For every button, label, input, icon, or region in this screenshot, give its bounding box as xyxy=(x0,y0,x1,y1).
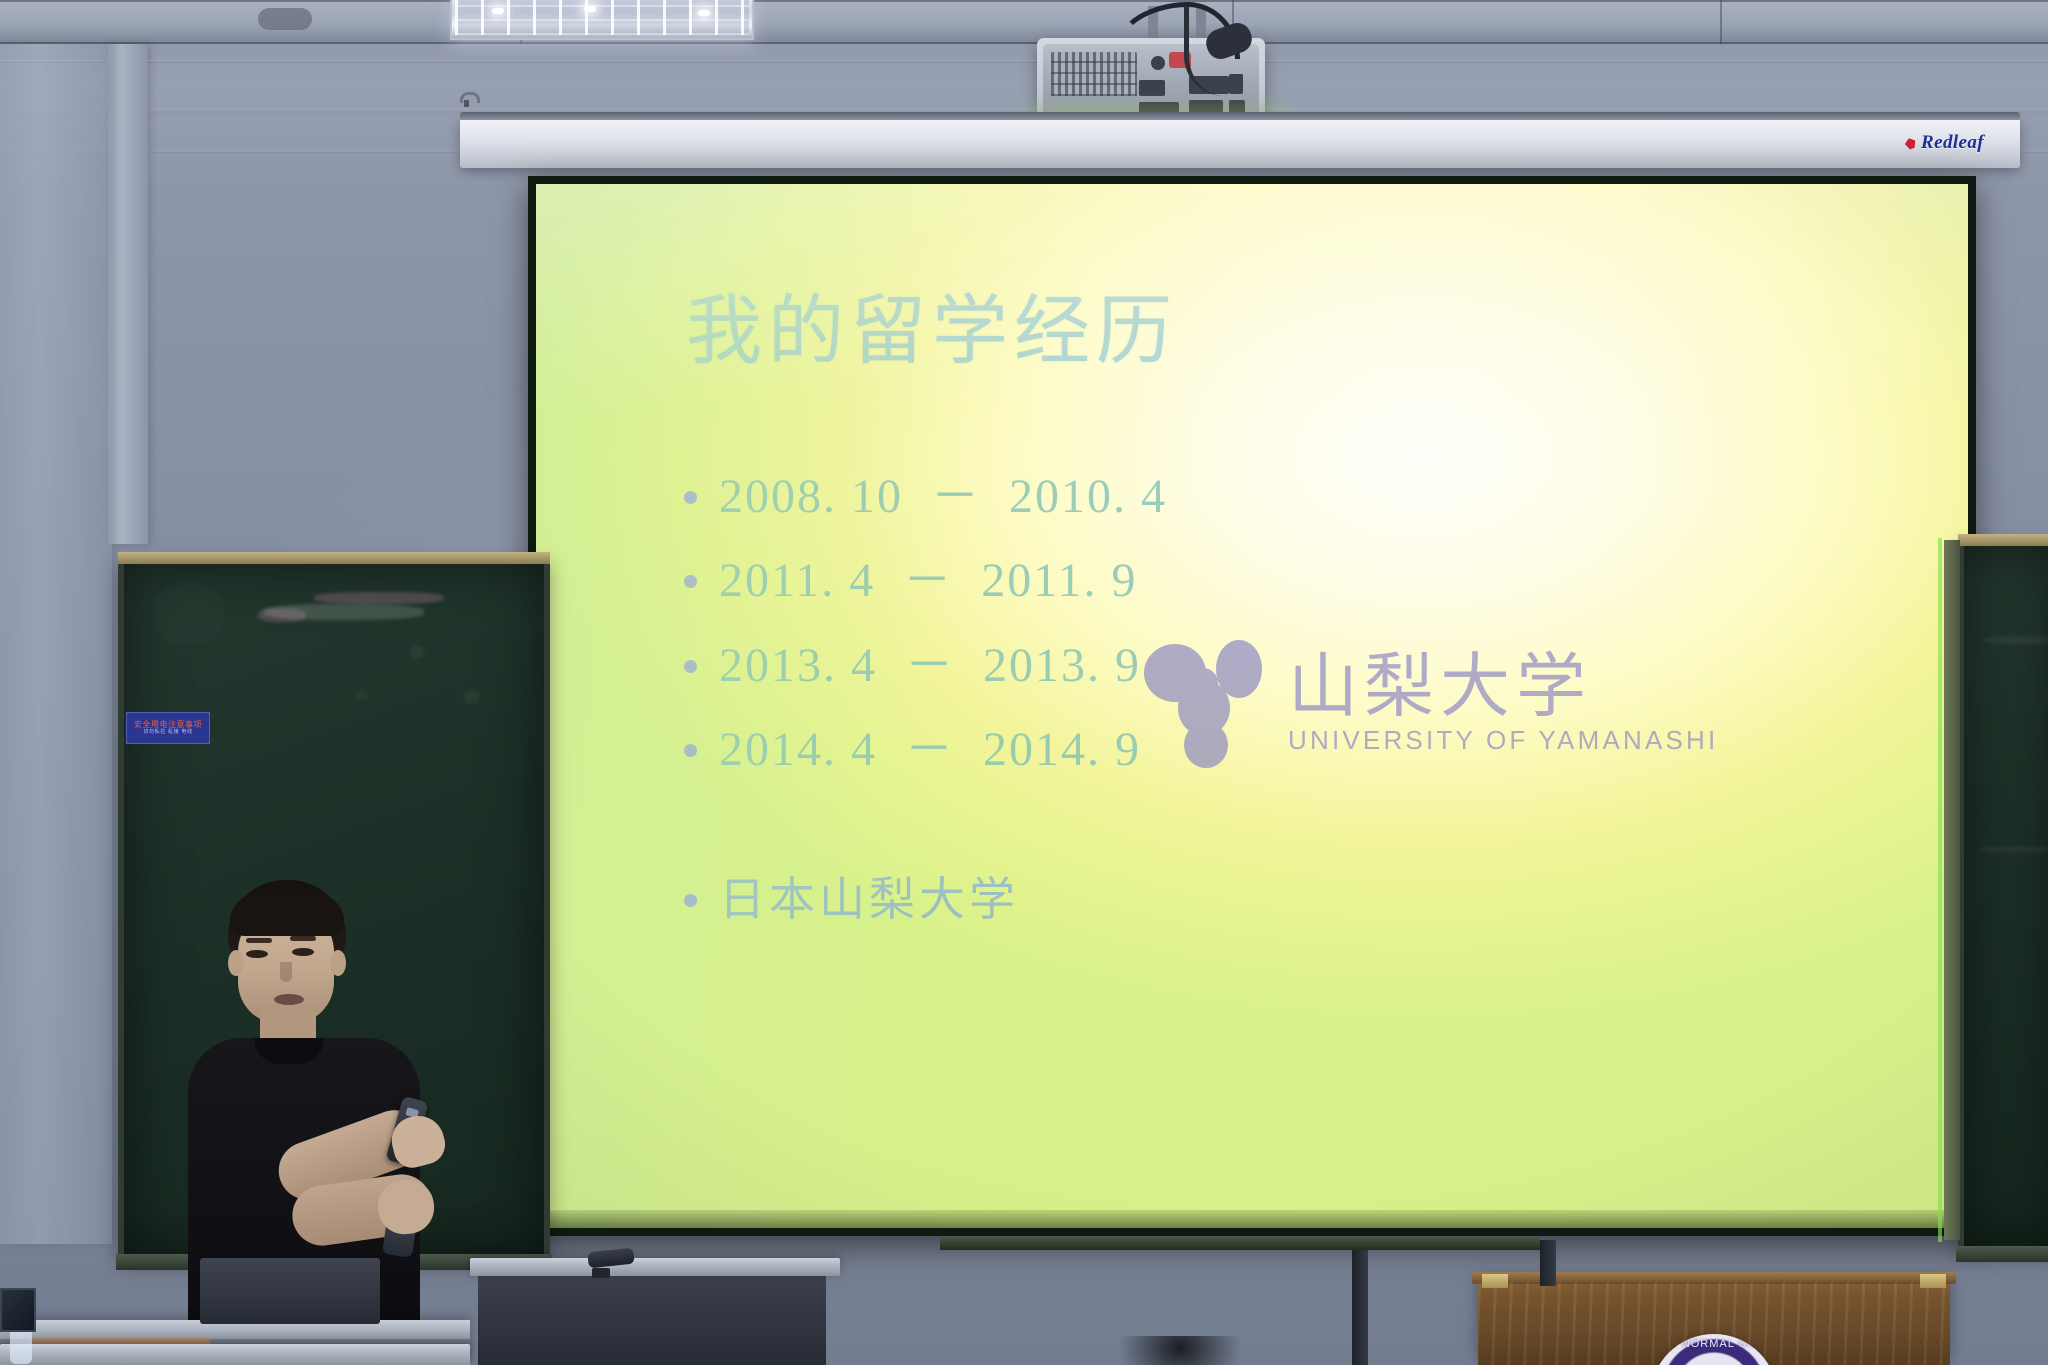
wall-pillar xyxy=(108,44,148,544)
yamanashi-university-logo: 山梨大学 UNIVERSITY OF YAMANASHI xyxy=(1144,638,1718,768)
projection-screen-frame: 我的留学经历 2008. 10 － 2010. 4 2011. 4 － 2011… xyxy=(528,176,1976,1236)
chalk-mark xyxy=(1980,846,2048,853)
presenter-eyebrow xyxy=(246,938,272,943)
lectern-corner-cap xyxy=(1482,1274,1508,1288)
projector-screen-valance[interactable]: Redleaf xyxy=(460,118,2020,168)
chalkboard-top-frame xyxy=(118,552,550,564)
right-chalkboard xyxy=(1958,540,2048,1252)
ceiling-line xyxy=(0,0,2048,2)
slide-title: 我的留学经历 xyxy=(686,294,1178,370)
list-item: 2011. 4 － 2011. 9 xyxy=(684,556,1504,606)
screen-lower-rail xyxy=(940,1238,1540,1250)
yamanashi-y-blob-logo xyxy=(1144,638,1262,768)
projector-port xyxy=(1139,80,1165,96)
chalk-mark xyxy=(410,646,424,658)
redleaf-wordmark: Redleaf xyxy=(1921,132,1984,154)
presenter-ear xyxy=(330,950,346,976)
seal-text: NG NORMAL UNIV xyxy=(1650,1334,1778,1365)
lectern-post xyxy=(1540,1240,1556,1286)
wall-side-panel xyxy=(0,44,112,1244)
presenter-eye xyxy=(246,950,268,958)
bullet-dot-icon xyxy=(684,894,697,907)
safety-notice-sticker: 安全用电注意事项 切勿私拉 乱接 电线 xyxy=(126,712,210,744)
front-desk-front xyxy=(0,1344,470,1365)
projector-green-edge-spill xyxy=(1938,538,1942,1242)
chalk-tray xyxy=(1956,1246,2048,1262)
chalkboard-side-frame xyxy=(1944,540,1960,1240)
list-item: 日本山梨大学 xyxy=(684,876,1504,924)
ceiling-seam xyxy=(1720,0,1722,44)
ceiling-line xyxy=(0,42,2048,44)
redleaf-brand: Redleaf xyxy=(1905,132,1984,154)
bullet-text: 2013. 4 － 2013. 9 xyxy=(719,641,1141,691)
logo-wordmark: 山梨大学 UNIVERSITY OF YAMANASHI xyxy=(1288,653,1718,753)
chalk-mark xyxy=(314,592,444,604)
valance-top-edge xyxy=(460,112,2020,120)
red-leaf-icon xyxy=(1904,136,1918,150)
logo-name-en: UNIVERSITY OF YAMANASHI xyxy=(1288,727,1718,753)
logo-name-cjk: 山梨大学 xyxy=(1288,653,1718,723)
bullet-dot-icon xyxy=(684,744,697,757)
light-diffuser-grid xyxy=(455,0,749,35)
bullet-dot-icon xyxy=(684,491,697,504)
bullet-text: 2011. 4 － 2011. 9 xyxy=(719,556,1137,606)
presenter-ear xyxy=(228,950,244,976)
university-seal: NG NORMAL UNIV xyxy=(1650,1334,1778,1365)
front-cabinet-top xyxy=(470,1258,840,1276)
chain-hook xyxy=(460,92,480,103)
list-item: 2008. 10 － 2010. 4 xyxy=(684,472,1504,522)
presenter-mouth xyxy=(274,994,304,1005)
chalk-mark xyxy=(356,690,368,700)
light-hotspot xyxy=(584,6,596,12)
wooden-lectern: NG NORMAL UNIV xyxy=(1478,1282,1950,1365)
chalk-mark xyxy=(1984,636,2048,644)
slide-content: 我的留学经历 2008. 10 － 2010. 4 2011. 4 － 2011… xyxy=(536,184,1968,1228)
front-cabinet xyxy=(478,1262,826,1365)
screen-bottom-shadow xyxy=(536,1210,1968,1228)
logo-blob xyxy=(1184,722,1228,768)
sticker-line-2: 切勿私拉 乱接 电线 xyxy=(143,730,192,736)
presenter-eyebrow xyxy=(290,936,316,941)
chalkboard-top-frame xyxy=(1958,534,2048,546)
projection-screen[interactable]: 我的留学经历 2008. 10 － 2010. 4 2011. 4 － 2011… xyxy=(536,184,1968,1228)
bullet-dot-icon xyxy=(684,575,697,588)
chalk-mark xyxy=(464,690,480,704)
bullet-text: 2008. 10 － 2010. 4 xyxy=(719,472,1167,522)
chalk-mark xyxy=(258,608,306,622)
side-monitor xyxy=(0,1288,36,1332)
bullet-text: 日本山梨大学 xyxy=(719,876,1019,924)
chalk-mark xyxy=(154,584,224,644)
lectern-corner-cap xyxy=(1920,1274,1946,1288)
presenter-eye xyxy=(292,948,314,956)
wall-join xyxy=(0,60,2048,63)
bullet-text: 2014. 4 － 2014. 9 xyxy=(719,725,1141,775)
screen-support-post xyxy=(1352,1246,1368,1365)
fluorescent-ceiling-light xyxy=(450,0,754,40)
bullet-dot-icon xyxy=(684,660,697,673)
classroom-photo: Redleaf 我的留学经历 2008. 10 － 2010. 4 2011. … xyxy=(0,0,2048,1365)
logo-blob-link xyxy=(1188,668,1218,712)
remote-shadow xyxy=(592,1268,610,1278)
light-hotspot xyxy=(492,8,504,14)
list-spacer xyxy=(684,810,1504,876)
ceiling-vent xyxy=(258,8,312,30)
light-hotspot xyxy=(698,10,710,16)
presenter-nose xyxy=(280,962,292,982)
presenter-hair-fringe xyxy=(230,894,344,936)
front-dark-equipment xyxy=(200,1258,380,1324)
audience-head-silhouette xyxy=(1120,1336,1240,1365)
